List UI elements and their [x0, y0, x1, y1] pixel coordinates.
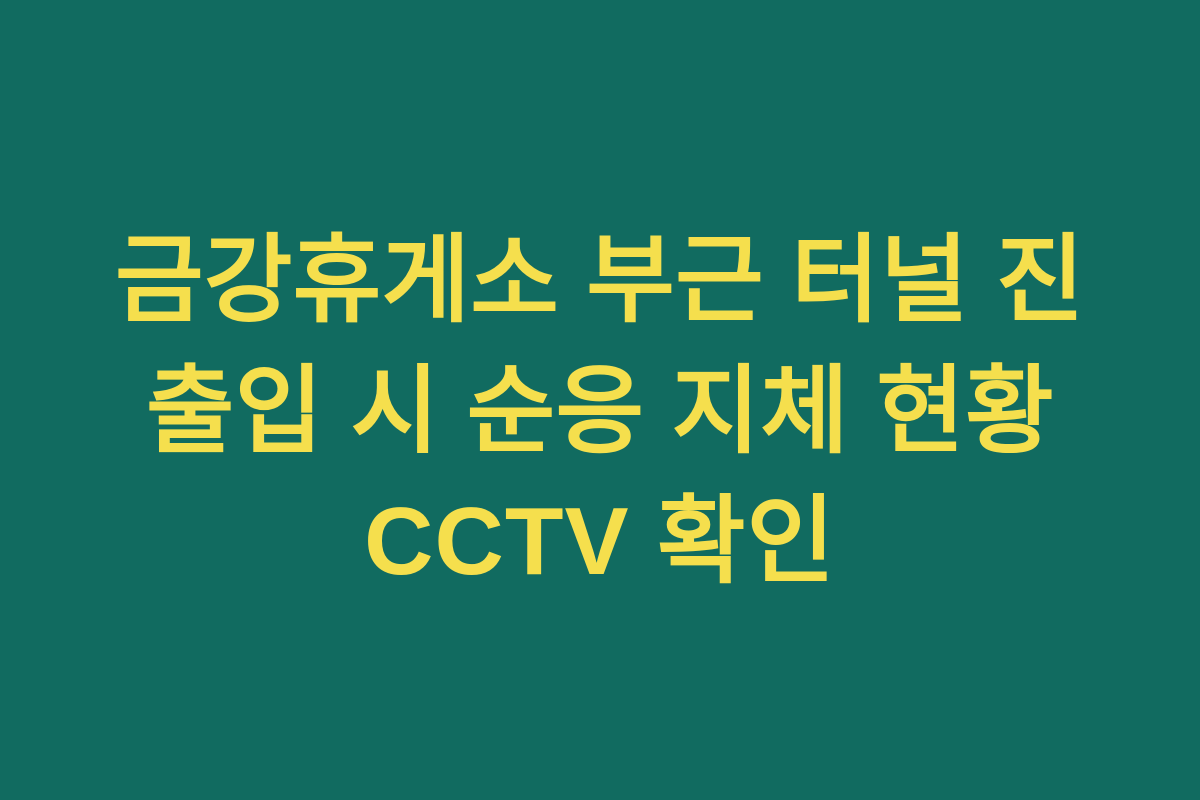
- thumbnail-card: 금강휴게소 부근 터널 진 출입 시 순응 지체 현황 CCTV 확인: [0, 0, 1200, 800]
- title-line-2: 출입 시 순응 지체 현황: [146, 347, 1054, 478]
- page-title: 금강휴게소 부근 터널 진 출입 시 순응 지체 현황 CCTV 확인: [70, 216, 1130, 608]
- title-line-3: CCTV 확인: [364, 477, 836, 608]
- title-line-1: 금강휴게소 부근 터널 진: [115, 216, 1085, 347]
